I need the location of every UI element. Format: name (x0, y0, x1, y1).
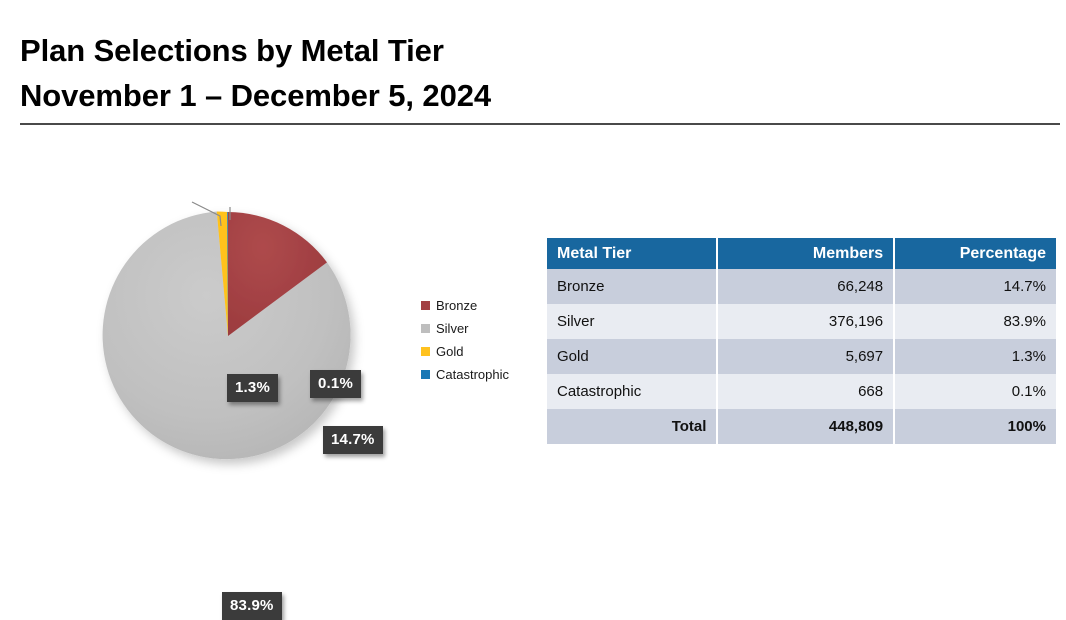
cell-percentage: 14.7% (895, 269, 1056, 304)
table-row: Catastrophic 668 0.1% (547, 374, 1056, 409)
table-total-row: Total 448,809 100% (547, 409, 1056, 444)
cell-percentage: 83.9% (895, 304, 1056, 339)
legend-label-catastrophic: Catastrophic (436, 368, 509, 381)
cell-members: 66,248 (718, 269, 893, 304)
chart-legend: Bronze Silver Gold Catastrophic (421, 294, 531, 386)
pie-slices (103, 212, 351, 460)
pie-label-gold: 1.3% (227, 374, 278, 402)
legend-item-bronze: Bronze (421, 294, 531, 317)
cell-members: 5,697 (718, 339, 893, 374)
legend-swatch-silver (421, 324, 430, 333)
cell-tier: Bronze (547, 269, 716, 304)
legend-item-silver: Silver (421, 317, 531, 340)
cell-tier: Catastrophic (547, 374, 716, 409)
title-divider (20, 123, 1060, 125)
title-line-2: November 1 – December 5, 2024 (20, 73, 1060, 118)
column-header-members: Members (718, 238, 893, 269)
table-row: Silver 376,196 83.9% (547, 304, 1056, 339)
legend-label-silver: Silver (436, 322, 469, 335)
table-row: Gold 5,697 1.3% (547, 339, 1056, 374)
column-header-percentage: Percentage (895, 238, 1056, 269)
cell-members: 376,196 (718, 304, 893, 339)
cell-tier: Gold (547, 339, 716, 374)
legend-swatch-gold (421, 347, 430, 356)
column-header-metal-tier: Metal Tier (547, 238, 716, 269)
pie-label-bronze: 14.7% (323, 426, 383, 454)
pie-chart: 1.3% 0.1% 14.7% 83.9% (80, 190, 400, 490)
legend-item-catastrophic: Catastrophic (421, 363, 531, 386)
legend-label-gold: Gold (436, 345, 463, 358)
legend-label-bronze: Bronze (436, 299, 477, 312)
cell-members: 668 (718, 374, 893, 409)
cell-tier: Silver (547, 304, 716, 339)
metal-tier-table: Metal Tier Members Percentage Bronze 66,… (545, 238, 1058, 444)
cell-percentage: 1.3% (895, 339, 1056, 374)
pie-label-silver: 83.9% (222, 592, 282, 620)
table-row: Bronze 66,248 14.7% (547, 269, 1056, 304)
legend-swatch-bronze (421, 301, 430, 310)
page-title: Plan Selections by Metal Tier November 1… (20, 28, 1060, 119)
pie-label-catastrophic: 0.1% (310, 370, 361, 398)
table-header-row: Metal Tier Members Percentage (547, 238, 1056, 269)
title-line-1: Plan Selections by Metal Tier (20, 28, 1060, 73)
cell-total-members: 448,809 (718, 409, 893, 444)
cell-total-percentage: 100% (895, 409, 1056, 444)
cell-total-label: Total (547, 409, 716, 444)
cell-percentage: 0.1% (895, 374, 1056, 409)
legend-swatch-catastrophic (421, 370, 430, 379)
legend-item-gold: Gold (421, 340, 531, 363)
